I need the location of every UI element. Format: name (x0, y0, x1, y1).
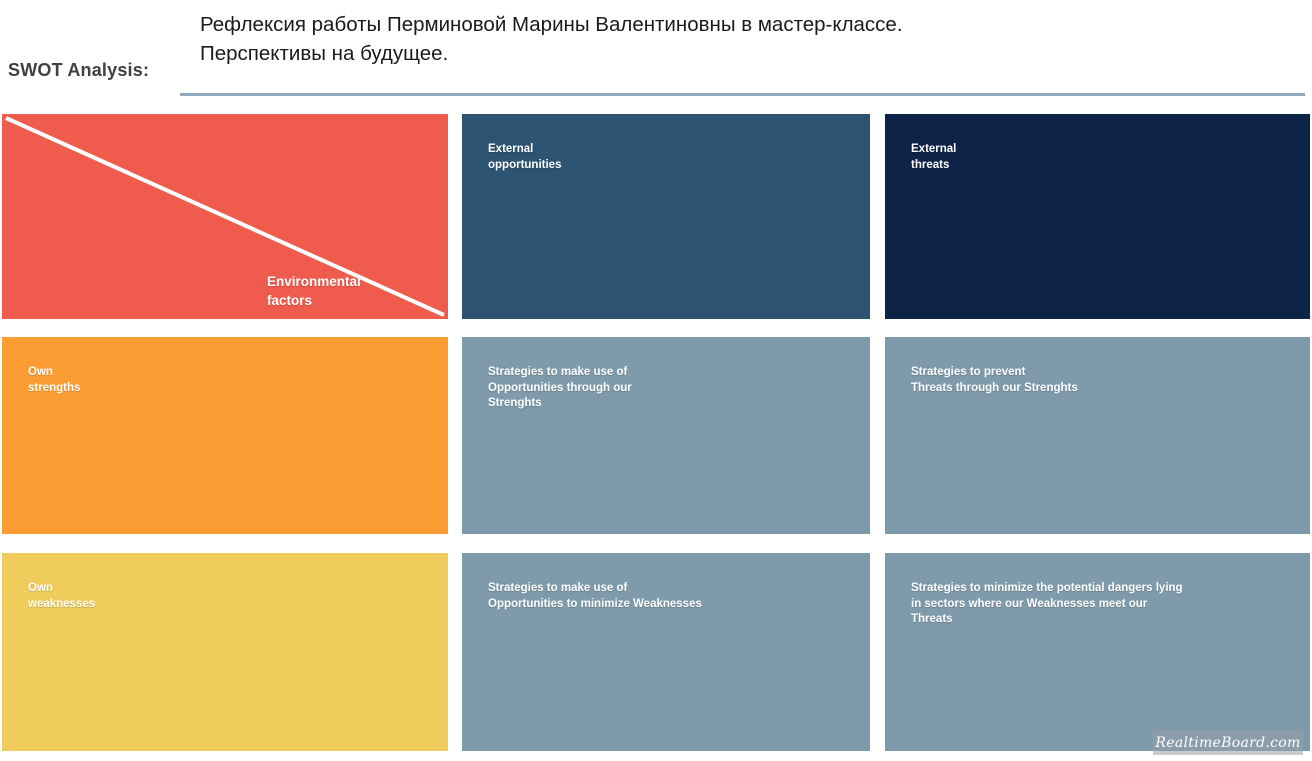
swot-grid: Environmental factors Own specific facto… (0, 0, 1312, 761)
environmental-factors-label: Environmental factors (267, 272, 361, 310)
cell-title-so-strategies: Strategies to make use of Opportunities … (488, 365, 632, 412)
cell-strategies-prevent-threats[interactable]: Strategies to prevent Threats through ou… (885, 337, 1310, 534)
cell-own-weaknesses[interactable]: Own weaknesses Чувство неудовлетворённос… (2, 553, 448, 751)
cell-title-external-opportunities: External opportunities (488, 142, 561, 173)
cell-title-own-strengths: Own strengths (28, 365, 80, 396)
cell-strategies-weaknesses-threats[interactable]: Strategies to minimize the potential dan… (885, 553, 1310, 751)
cell-title-wo-strategies: Strategies to make use of Opportunities … (488, 581, 702, 612)
cell-title-external-threats: External threats (911, 142, 956, 173)
cell-title-own-weaknesses: Own weaknesses (28, 581, 95, 612)
cell-strategies-opportunities-strengths[interactable]: Strategies to make use of Opportunities … (462, 337, 870, 534)
cell-own-strengths[interactable]: Own strengths Стремление узнавать новое,… (2, 337, 448, 534)
cell-title-st-strategies: Strategies to prevent Threats through ou… (911, 365, 1078, 396)
cell-strategies-opportunities-weaknesses[interactable]: Strategies to make use of Opportunities … (462, 553, 870, 751)
cell-external-threats[interactable]: External threats Не хватает времени на к… (885, 114, 1310, 319)
cell-title-wt-strategies: Strategies to minimize the potential dan… (911, 581, 1183, 628)
cell-external-opportunities[interactable]: External opportunities Самообразование. … (462, 114, 870, 319)
swot-axes-cell: Environmental factors Own specific facto… (2, 114, 448, 319)
realtimeboard-watermark: RealtimeBoard.com (1153, 730, 1303, 755)
diagonal-divider-icon (2, 114, 448, 319)
